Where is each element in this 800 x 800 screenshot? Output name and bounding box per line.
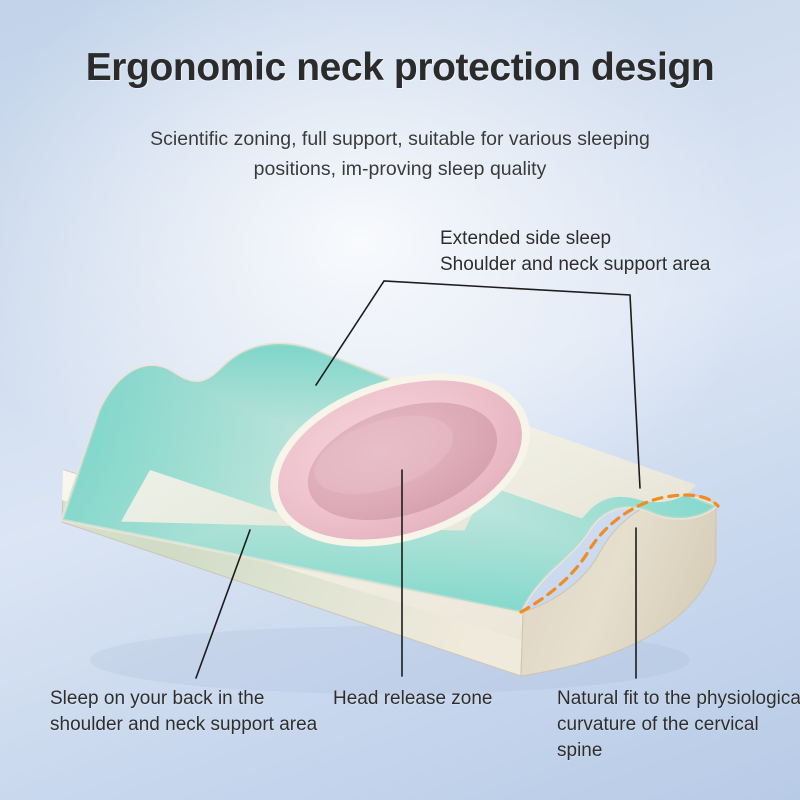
infographic-page: Ergonomic neck protection design Scienti… xyxy=(0,0,800,800)
pillow-illustration xyxy=(0,0,800,800)
label-cervical-curvature: Natural fit to the physiological curvatu… xyxy=(557,686,800,764)
label-head-release-zone: Head release zone xyxy=(333,686,493,712)
pillow-body xyxy=(62,343,718,676)
label-extended-side-sleep: Extended side sleep Shoulder and neck su… xyxy=(440,226,710,278)
label-back-sleep-support: Sleep on your back in the shoulder and n… xyxy=(50,686,320,738)
